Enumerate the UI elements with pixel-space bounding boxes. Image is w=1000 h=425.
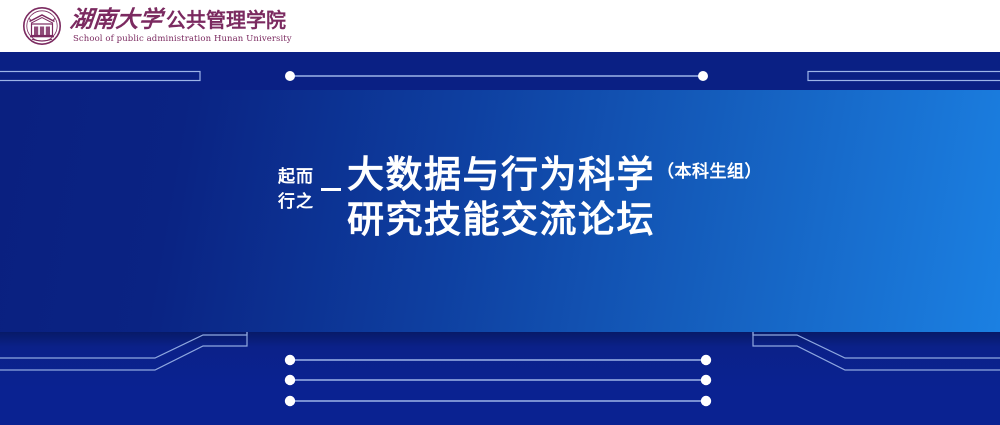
decor-rail-2-dot-left bbox=[285, 375, 295, 385]
decor-rail-3-dot-right bbox=[701, 396, 711, 406]
title-row-primary: 大数据与行为科学 （本科生组） bbox=[347, 152, 762, 197]
title-group-label: （本科生组） bbox=[657, 157, 762, 182]
motto-text: 起而 行之 bbox=[278, 165, 314, 214]
bottom-decoration-graphics bbox=[0, 332, 1000, 425]
logo-english-name: School of public administration Hunan Un… bbox=[73, 35, 292, 44]
header-bar: 湖南大学 公共管理学院 School of public administrat… bbox=[0, 0, 1000, 52]
top-decoration-strip bbox=[0, 52, 1000, 90]
decor-rail-1-dot-right bbox=[701, 355, 711, 365]
motto-line-1: 起而 bbox=[278, 165, 314, 190]
decor-rail-2-dot-right bbox=[701, 375, 711, 385]
decor-rect-right bbox=[808, 72, 1000, 81]
motto-divider-rule bbox=[321, 188, 341, 191]
top-decoration-graphics bbox=[0, 52, 1000, 90]
decor-rect-left bbox=[0, 72, 200, 81]
logo-text-block: 湖南大学 公共管理学院 School of public administrat… bbox=[70, 8, 292, 44]
bottom-decoration-band bbox=[0, 332, 1000, 425]
title-line-2: 研究技能交流论坛 bbox=[347, 197, 762, 242]
logo-university-name: 湖南大学 bbox=[69, 8, 163, 31]
decor-polyline-left-inner bbox=[0, 332, 247, 370]
decor-dot-left bbox=[285, 71, 295, 81]
university-logo: 湖南大学 公共管理学院 School of public administrat… bbox=[22, 6, 292, 46]
motto-line-2: 行之 bbox=[278, 190, 314, 215]
university-seal-icon bbox=[22, 6, 62, 46]
decor-rail-1-dot-left bbox=[285, 355, 295, 365]
logo-school-name: 公共管理学院 bbox=[166, 10, 286, 30]
decor-rail-3-dot-left bbox=[285, 396, 295, 406]
decor-polyline-left-outer bbox=[0, 332, 247, 358]
title-lines: 大数据与行为科学 （本科生组） 研究技能交流论坛 bbox=[347, 152, 762, 242]
decor-polyline-right-inner bbox=[753, 332, 1000, 370]
title-line-1: 大数据与行为科学 bbox=[347, 152, 655, 197]
decor-dot-right bbox=[698, 71, 708, 81]
logo-chinese-name: 湖南大学 公共管理学院 bbox=[70, 8, 292, 31]
poster-canvas: 湖南大学 公共管理学院 School of public administrat… bbox=[0, 0, 1000, 425]
decor-polyline-right-outer bbox=[753, 332, 1000, 358]
title-block: 起而 行之 大数据与行为科学 （本科生组） 研究技能交流论坛 bbox=[278, 152, 762, 242]
